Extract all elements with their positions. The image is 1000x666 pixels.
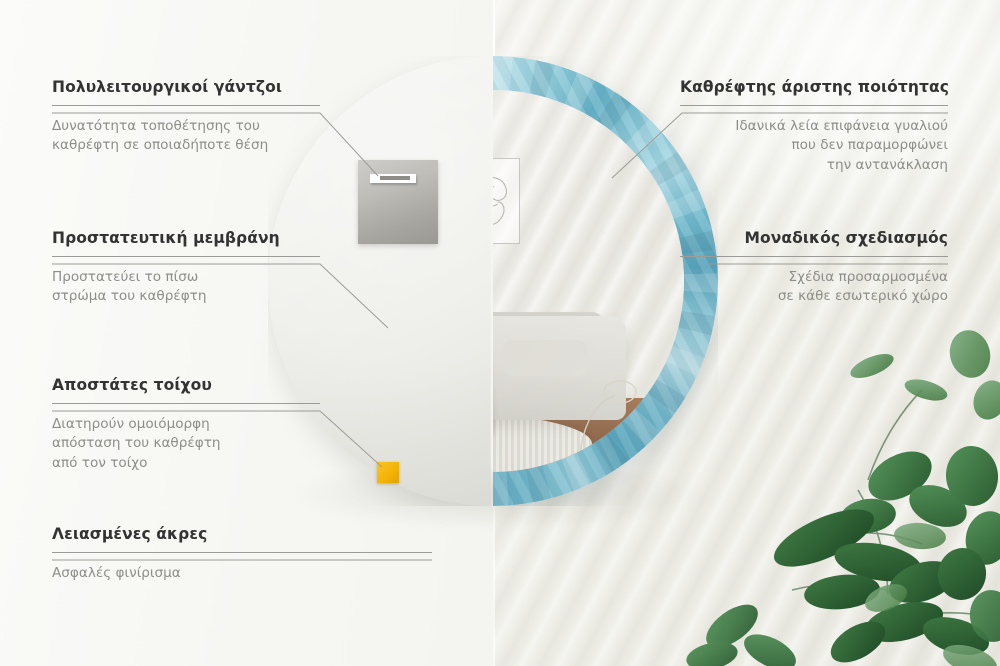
hanger-slot-icon <box>370 174 416 183</box>
callout-rule <box>52 105 320 106</box>
callout-body: Προστατεύει το πίσω στρώμα του καθρέφτη <box>52 268 320 307</box>
callout-title: Καθρέφτης άριστης ποιότητας <box>680 78 948 96</box>
callout-title: Λειασμένες άκρες <box>52 525 432 543</box>
round-mirror-product <box>268 56 718 506</box>
callout-smoothed-edges: Λειασμένες άκρες Ασφαλές φινίρισμα <box>52 525 432 583</box>
callout-title: Μοναδικός σχεδιασμός <box>680 229 948 247</box>
callout-title: Αποστάτες τοίχου <box>52 376 320 394</box>
reflection-floor-lamp <box>574 352 656 464</box>
callout-body: Δυνατότητα τοποθέτησης του καθρέφτη σε ο… <box>52 117 320 156</box>
callout-body: Ιδανικά λεία επιφάνεια γυαλιού που δεν π… <box>680 117 948 175</box>
wall-spacer-pad-detail <box>377 462 399 483</box>
callout-multifunctional-hooks: Πολυλειτουργικοί γάντζοι Δυνατότητα τοπο… <box>52 78 320 156</box>
product-feature-diagram: Πολυλειτουργικοί γάντζοι Δυνατότητα τοπο… <box>0 0 1000 666</box>
callout-rule <box>52 552 432 553</box>
callout-protective-membrane: Προστατευτική μεμβράνη Προστατεύει το πί… <box>52 229 320 307</box>
callout-wall-spacers: Αποστάτες τοίχου Διατηρούν ομοιόμορφη απ… <box>52 376 320 473</box>
callout-title: Προστατευτική μεμβράνη <box>52 229 320 247</box>
callout-title: Πολυλειτουργικοί γάντζοι <box>52 78 320 96</box>
callout-top-quality-mirror: Καθρέφτης άριστης ποιότητας Ιδανικά λεία… <box>680 78 948 175</box>
callout-rule <box>680 256 948 257</box>
callout-body: Σχέδια προσαρμοσμένα σε κάθε εσωτερικό χ… <box>680 268 948 307</box>
callout-rule <box>52 403 320 404</box>
callout-body: Διατηρούν ομοιόμορφη απόσταση του καθρέφ… <box>52 415 320 473</box>
hanger-plate-detail <box>358 160 438 244</box>
callout-rule <box>52 256 320 257</box>
callout-rule <box>680 105 948 106</box>
callout-unique-design: Μοναδικός σχεδιασμός Σχέδια προσαρμοσμέν… <box>680 229 948 307</box>
callout-body: Ασφαλές φινίρισμα <box>52 564 432 583</box>
